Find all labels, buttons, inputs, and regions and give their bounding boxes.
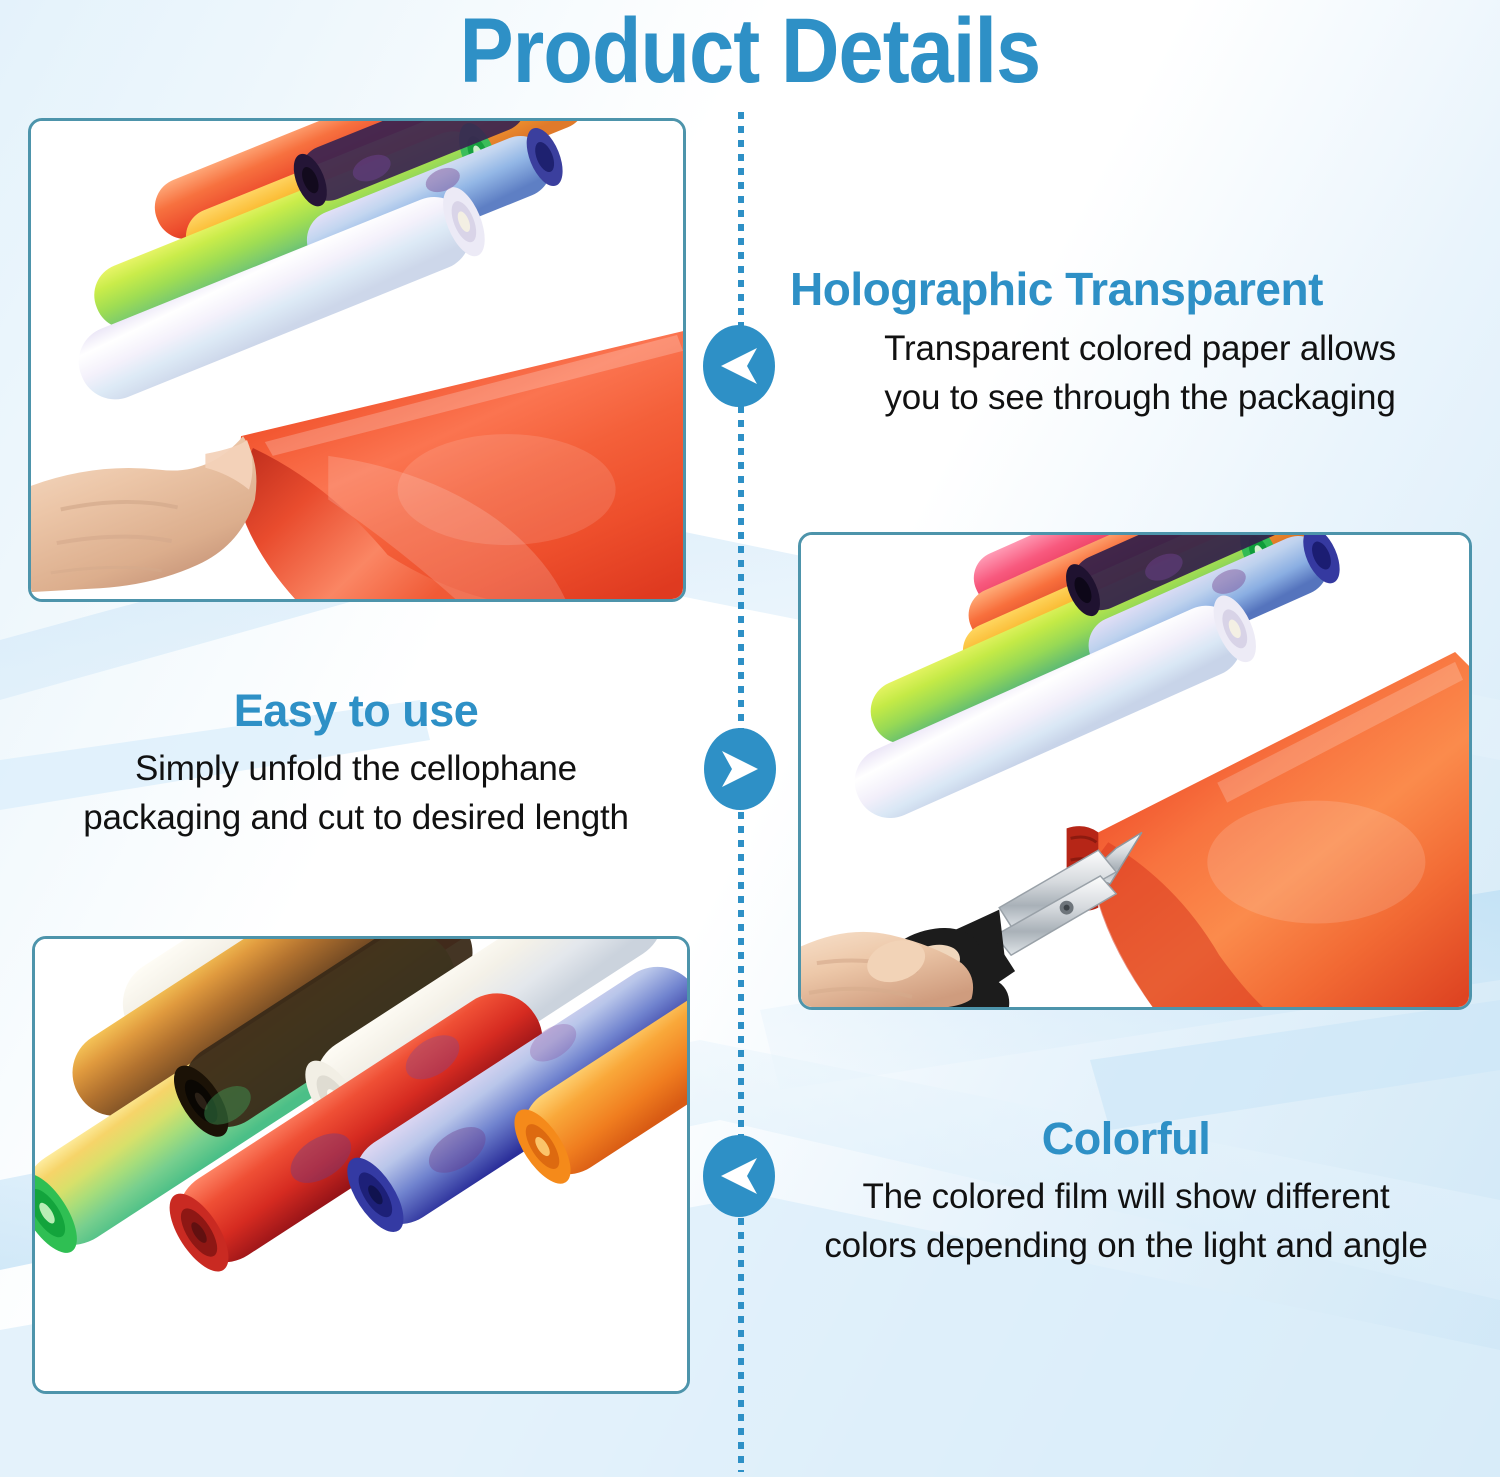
arrow-left-icon bbox=[703, 1135, 775, 1217]
feature-description-line: packaging and cut to desired length bbox=[20, 793, 692, 842]
feature-description: Transparent colored paper allows you to … bbox=[790, 324, 1490, 422]
arrow-left-icon bbox=[703, 325, 775, 407]
page-title: Product Details bbox=[90, 2, 1410, 100]
feature-description-line: The colored film will show different bbox=[770, 1172, 1482, 1221]
feature-description-line: colors depending on the light and angle bbox=[770, 1221, 1482, 1270]
feature-block-holographic-transparent: Holographic Transparent Transparent colo… bbox=[790, 262, 1490, 422]
photo-holographic-rolls-and-red-sheet bbox=[28, 118, 686, 602]
product-details-infographic: Product Details bbox=[0, 0, 1500, 1477]
feature-description-line: Simply unfold the cellophane bbox=[20, 744, 692, 793]
feature-description: Simply unfold the cellophane packaging a… bbox=[20, 744, 692, 842]
arrow-right-icon bbox=[704, 728, 776, 810]
feature-heading: Colorful bbox=[770, 1112, 1482, 1166]
feature-description: The colored film will show different col… bbox=[770, 1172, 1482, 1270]
feature-heading: Easy to use bbox=[20, 684, 692, 738]
photo-stack-of-colored-rolls bbox=[32, 936, 690, 1394]
feature-block-easy-to-use: Easy to use Simply unfold the cellophane… bbox=[20, 684, 692, 842]
feature-description-line: Transparent colored paper allows bbox=[790, 324, 1490, 373]
feature-heading: Holographic Transparent bbox=[790, 262, 1490, 316]
feature-block-colorful: Colorful The colored film will show diff… bbox=[770, 1112, 1482, 1270]
photo-scissors-cutting-cellophane bbox=[798, 532, 1472, 1010]
feature-description-line: you to see through the packaging bbox=[790, 373, 1490, 422]
